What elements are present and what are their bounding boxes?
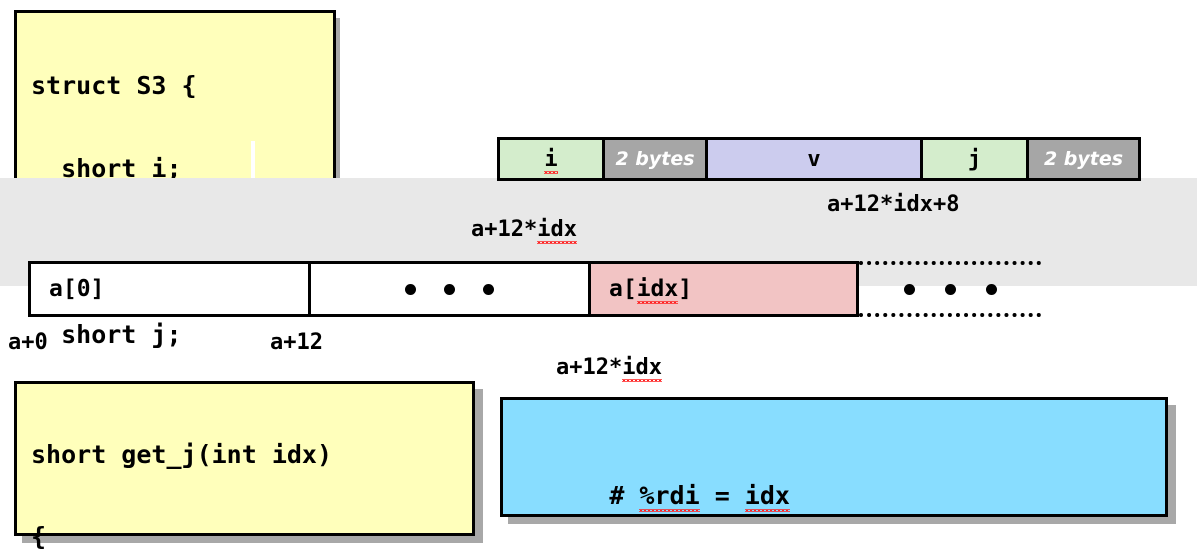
address-label-struct-field-j: a+12*idx+8 [827, 192, 959, 217]
dot [444, 284, 455, 295]
address-label-a-plus-12: a+12 [270, 330, 323, 355]
dot [904, 284, 915, 295]
address-label-a-plus-0: a+0 [8, 330, 48, 355]
ellipsis-dots-left [311, 284, 588, 295]
array-cell-label-a-idx: a[idx] [591, 276, 692, 302]
slide-canvas: struct S3 { short i; float v; short j; }… [0, 0, 1197, 549]
dot [986, 284, 997, 295]
dot [405, 284, 416, 295]
dot [945, 284, 956, 295]
address-label-struct-start: a+12*idx [418, 192, 577, 267]
array-cell-label-a0: a[0] [31, 276, 104, 302]
address-label-a-plus-12-idx: a+12*idx [503, 330, 662, 405]
array-row: a[0] a[idx] [0, 0, 1197, 549]
array-cell-ellipsis-right-open [859, 261, 1041, 317]
ellipsis-dots-right [859, 284, 1041, 295]
array-cell-a-idx: a[idx] [588, 261, 859, 317]
array-cell-a0: a[0] [28, 261, 311, 317]
array-cell-ellipsis-left [308, 261, 591, 317]
dot [483, 284, 494, 295]
